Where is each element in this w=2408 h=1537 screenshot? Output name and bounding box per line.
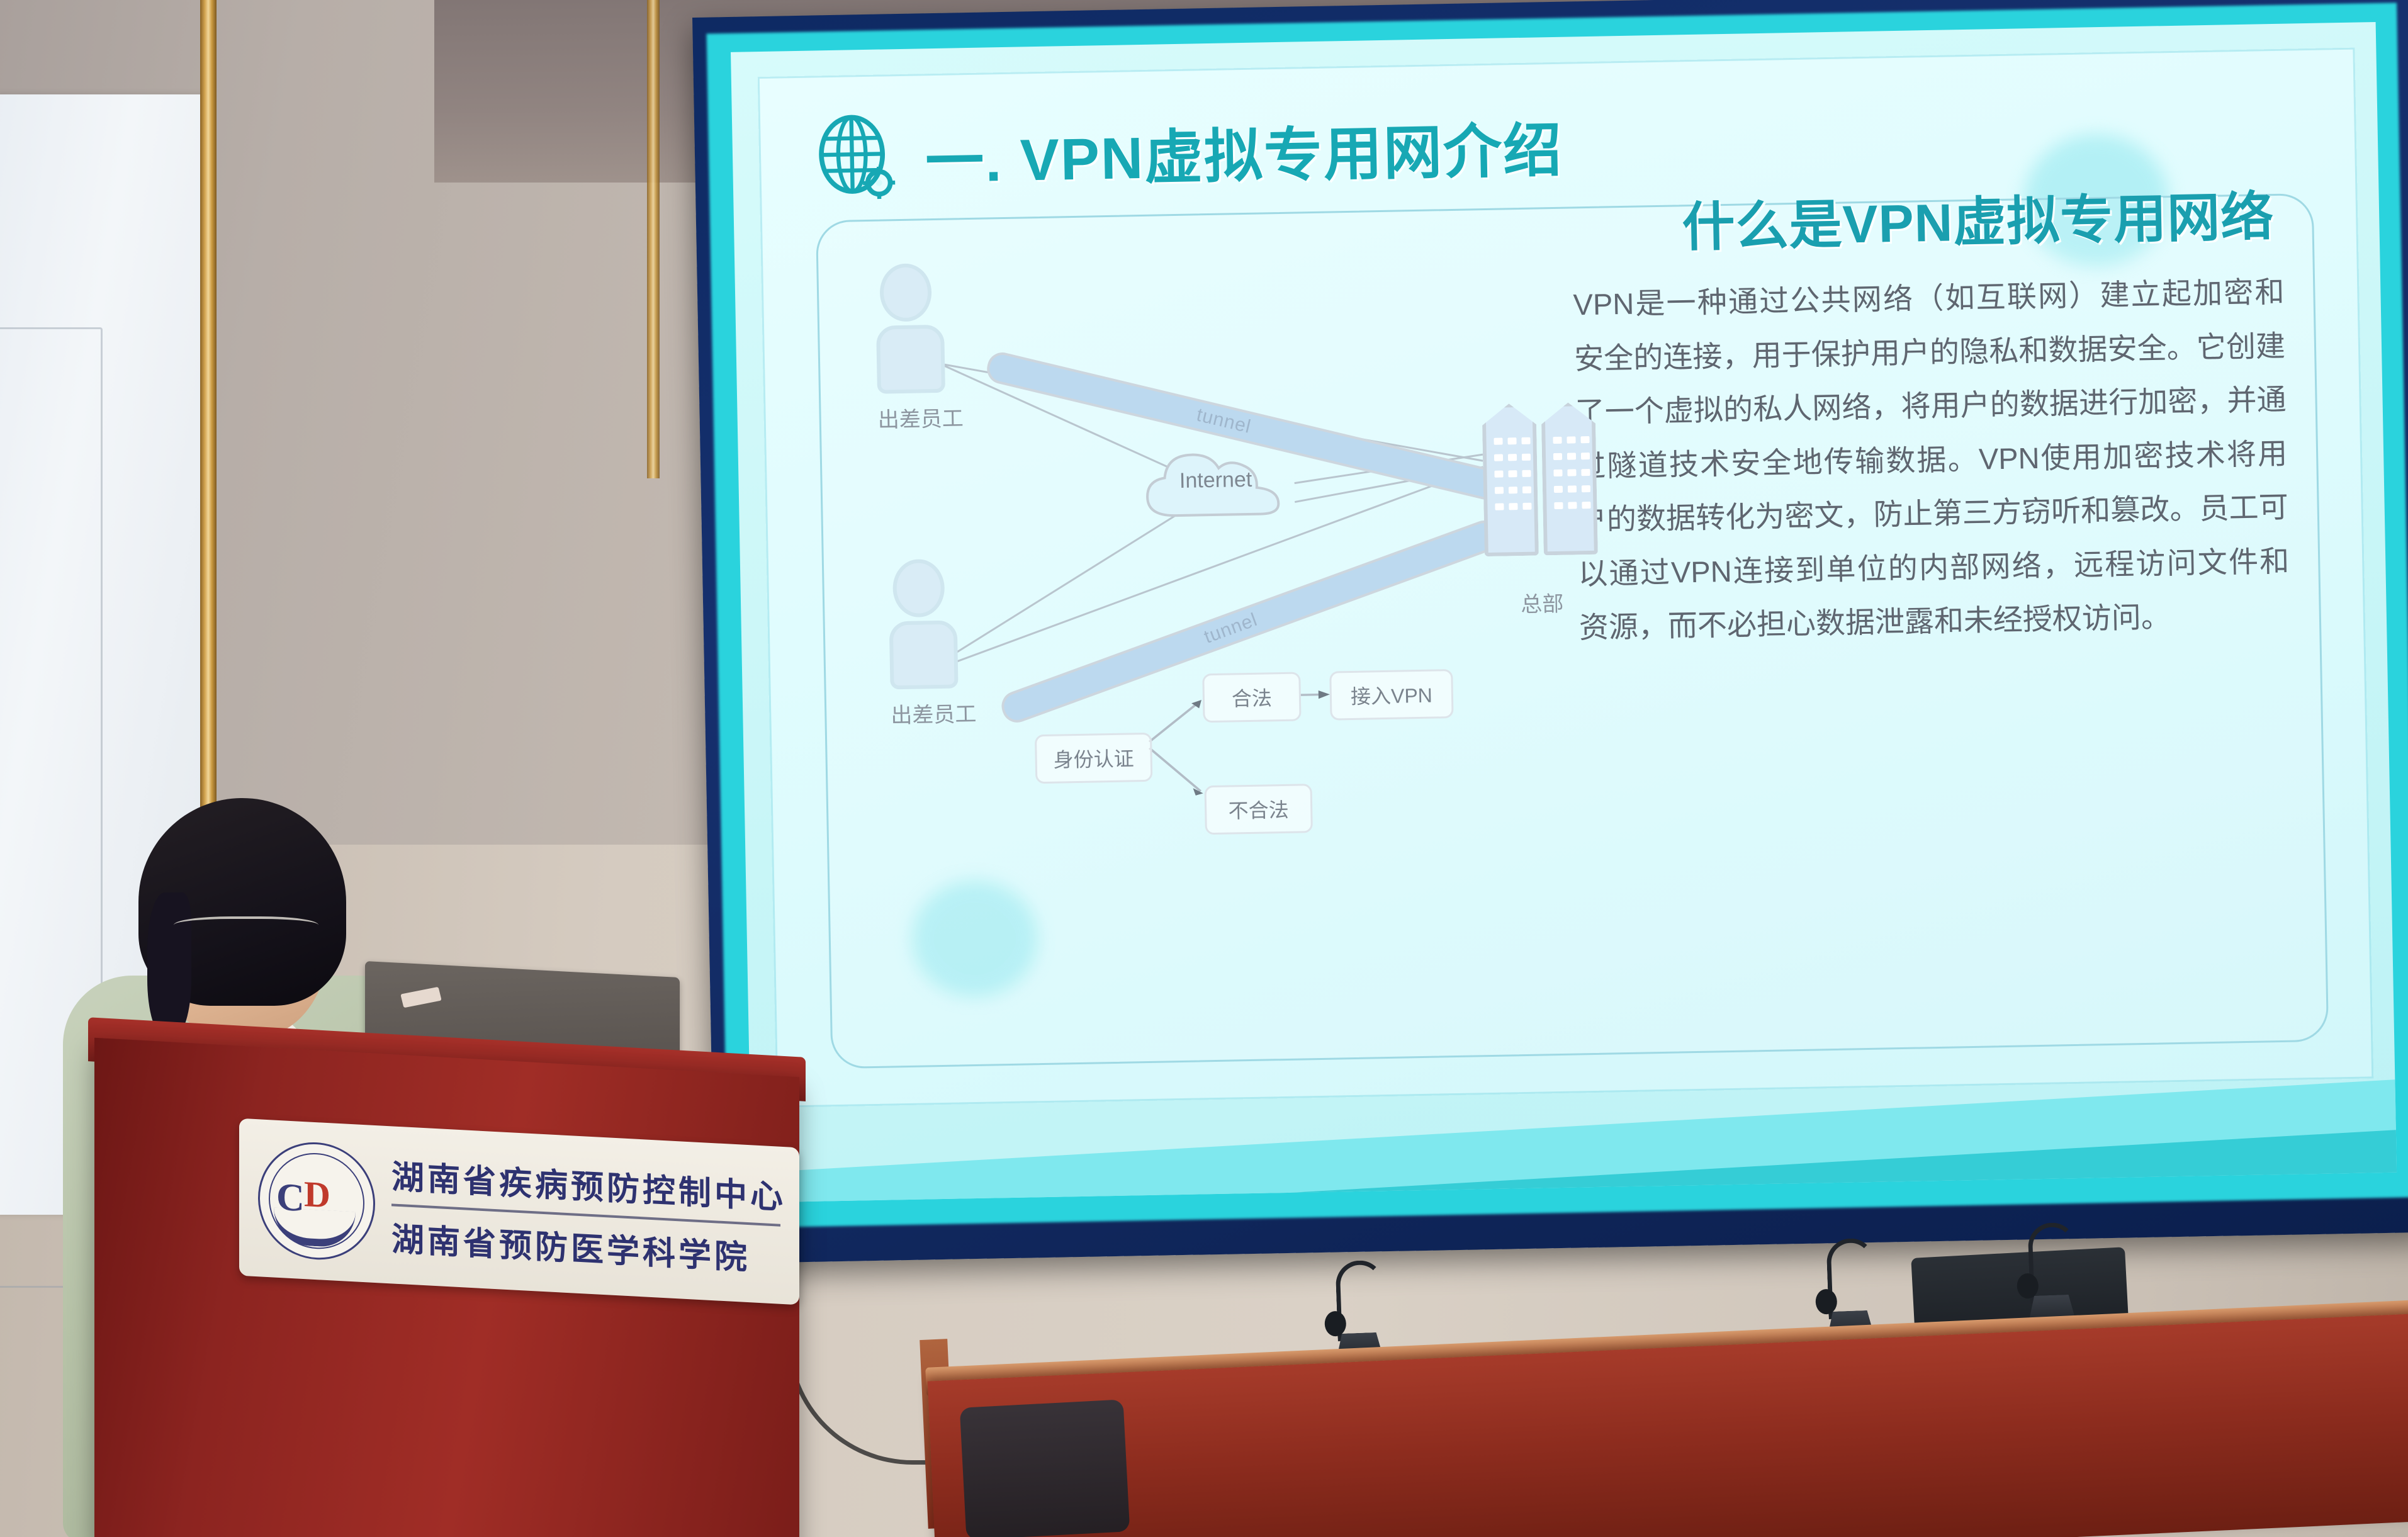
slide-section-title: 一. VPN虚拟专用网介绍 bbox=[925, 102, 1563, 199]
person-head-icon bbox=[892, 559, 945, 617]
flow-box-vpn-access: 接入VPN bbox=[1329, 669, 1453, 721]
diagram-node-headquarters: 总部 bbox=[1482, 402, 1599, 619]
logo-swoosh-icon bbox=[274, 1208, 356, 1249]
diagram-node-employee-bottom: 出差员工 bbox=[888, 559, 952, 729]
cdc-logo: C D bbox=[258, 1139, 375, 1263]
flow-box-invalid: 不合法 bbox=[1204, 784, 1312, 835]
office-buildings-icon bbox=[1482, 402, 1597, 556]
diagram-node-internet: Internet bbox=[1136, 439, 1295, 524]
laptop-sticker bbox=[400, 987, 441, 1008]
person-body-icon bbox=[876, 325, 945, 394]
flow-box-valid: 合法 bbox=[1202, 672, 1301, 723]
presenter-glasses-icon bbox=[174, 916, 318, 938]
node-label: 总部 bbox=[1485, 586, 1599, 619]
presentation-slide: 一. VPN虚拟专用网介绍 什么是VPN虚拟专用网络 VPN是一种通过公共网络（… bbox=[731, 22, 2397, 1203]
card-body-text: VPN是一种通过公共网络（如互联网）建立起加密和安全的连接，用于保护用户的隐私和… bbox=[1573, 265, 2291, 655]
plaque-text: 湖南省疾病预防控制中心 湖南省预防医学科学院 bbox=[391, 1150, 780, 1280]
auth-flow-group: 身份认证 合法 接入VPN 不合法 bbox=[1034, 689, 1427, 821]
node-label: 出差员工 bbox=[877, 402, 938, 434]
diagram-node-employee-top: 出差员工 bbox=[875, 263, 938, 434]
screenshot-root: 一. VPN虚拟专用网介绍 什么是VPN虚拟专用网络 VPN是一种通过公共网络（… bbox=[0, 0, 2408, 1537]
card-heading: 什么是VPN虚拟专用网络 bbox=[1681, 174, 2275, 261]
presenter-hair bbox=[138, 798, 346, 1006]
gooseneck-microphone-icon bbox=[2012, 1213, 2085, 1329]
building-icon bbox=[1482, 403, 1538, 557]
podium-plaque: C D 湖南省疾病预防控制中心 湖南省预防医学科学院 bbox=[239, 1118, 799, 1305]
flow-box-authentication: 身份认证 bbox=[1035, 733, 1152, 784]
node-label: Internet bbox=[1137, 467, 1295, 495]
person-head-icon bbox=[879, 263, 932, 322]
slide-card: 什么是VPN虚拟专用网络 VPN是一种通过公共网络（如互联网）建立起加密和安全的… bbox=[816, 193, 2329, 1069]
node-label: 出差员工 bbox=[891, 697, 952, 729]
chair bbox=[960, 1399, 1130, 1537]
gold-trim-strip bbox=[647, 0, 660, 478]
vpn-network-diagram: 出差员工 出差员工 Internet bbox=[837, 244, 1621, 812]
projection-screen: 一. VPN虚拟专用网介绍 什么是VPN虚拟专用网络 VPN是一种通过公共网络（… bbox=[692, 0, 2408, 1264]
slide-content-area: 一. VPN虚拟专用网介绍 什么是VPN虚拟专用网络 VPN是一种通过公共网络（… bbox=[758, 48, 2374, 1108]
slide-header: 一. VPN虚拟专用网介绍 bbox=[815, 101, 1563, 202]
building-icon bbox=[1541, 402, 1597, 556]
person-body-icon bbox=[889, 620, 959, 689]
globe-gear-icon bbox=[815, 113, 897, 201]
